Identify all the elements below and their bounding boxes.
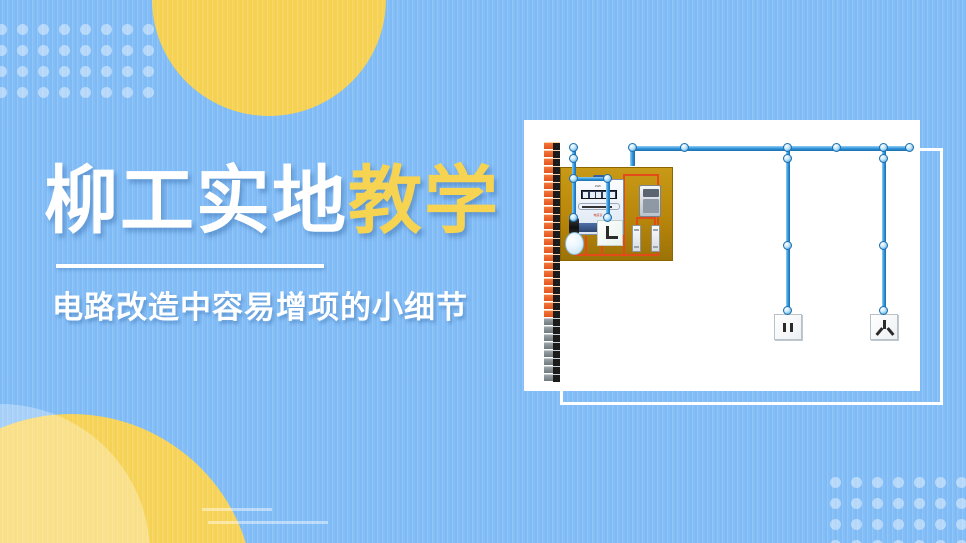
conduit-joint [569, 174, 578, 183]
dot [830, 477, 841, 488]
yellow-circle-top [152, 0, 386, 116]
wire-segment [575, 254, 659, 256]
brick-gray [544, 326, 560, 333]
dot [935, 519, 946, 530]
brick [544, 254, 560, 261]
brick [544, 222, 560, 229]
meter-scale [578, 203, 620, 210]
knife-switch [639, 185, 661, 217]
dot [0, 24, 7, 35]
conduit-outlet1-drop [786, 151, 790, 317]
brick [544, 238, 560, 245]
brick [544, 174, 560, 181]
conduit-joint [569, 213, 578, 222]
conduit-joint [569, 143, 578, 152]
dot [893, 477, 904, 488]
wire-segment [636, 217, 655, 219]
brick [544, 286, 560, 293]
brick-gray [544, 350, 560, 357]
dot [101, 24, 112, 35]
decor-line-1 [202, 508, 272, 511]
wall-switch [597, 220, 623, 246]
brick [544, 214, 560, 221]
dot [59, 45, 70, 56]
dot [143, 87, 154, 98]
brick-gray [544, 358, 560, 365]
dot [956, 519, 966, 530]
dot [956, 498, 966, 509]
dot [0, 66, 7, 77]
dot [59, 66, 70, 77]
brick-gray [544, 342, 560, 349]
brick-gray [544, 374, 560, 381]
brick [544, 230, 560, 237]
brick [544, 270, 560, 277]
page-subtitle: 电路改造中容易增项的小细节 [52, 282, 468, 327]
brick [544, 190, 560, 197]
dot [143, 24, 154, 35]
dot [914, 498, 925, 509]
conduit-outlet2-drop [882, 151, 886, 317]
dot [830, 519, 841, 530]
brick-gray [544, 334, 560, 341]
fuse-holder-1 [632, 225, 641, 252]
dot [38, 87, 49, 98]
dot [143, 45, 154, 56]
brick [544, 198, 560, 205]
dot [101, 66, 112, 77]
dot [80, 24, 91, 35]
dot [956, 477, 966, 488]
dot-row [830, 477, 966, 498]
brick-wall [544, 142, 560, 374]
page-title: 柳工实地教学 [44, 164, 500, 238]
brick [544, 278, 560, 285]
dot-row [830, 519, 966, 540]
conduit-joint [879, 306, 888, 315]
fuse-holder-2 [651, 225, 660, 252]
brick-gray [544, 366, 560, 373]
dot [122, 24, 133, 35]
dot [851, 498, 862, 509]
dot [101, 87, 112, 98]
outlet-two-pin [774, 314, 802, 340]
dot [59, 87, 70, 98]
dot-row [830, 498, 966, 519]
dot [17, 66, 28, 77]
meter-spec-text: 电度表 [576, 213, 620, 217]
outlet-three-pin [870, 314, 898, 340]
conduit-joint [879, 143, 888, 152]
dot [17, 45, 28, 56]
conduit-joint [783, 154, 792, 163]
meter-digit-display [581, 190, 617, 199]
brick [544, 166, 560, 173]
brick [544, 310, 560, 317]
brick [544, 302, 560, 309]
dot [830, 498, 841, 509]
brick [544, 206, 560, 213]
banner-canvas: 柳工实地教学 电路改造中容易增项的小细节 [0, 0, 966, 543]
illustration-card: kWh 电度表 [524, 120, 920, 391]
conduit-joint [783, 306, 792, 315]
light-bulb [565, 232, 584, 255]
dot [914, 519, 925, 530]
dot [80, 66, 91, 77]
dot [38, 24, 49, 35]
conduit-joint [569, 154, 578, 163]
conduit-joint [905, 143, 914, 152]
dot-grid-top-left [0, 24, 164, 108]
title-yellow-part: 教学 [348, 158, 500, 244]
dot [17, 87, 28, 98]
dot [893, 519, 904, 530]
title-white-part: 柳工实地 [44, 158, 348, 244]
dot [38, 45, 49, 56]
dot [851, 519, 862, 530]
conduit-joint [879, 241, 888, 250]
dot [122, 45, 133, 56]
main-conduit-horizontal [632, 146, 912, 151]
dot [872, 519, 883, 530]
dot [0, 87, 7, 98]
brick [544, 150, 560, 157]
conduit-joint [603, 213, 612, 222]
dot [17, 24, 28, 35]
dot [0, 45, 7, 56]
dot-row [0, 45, 164, 66]
conduit-joint [628, 143, 637, 152]
breaker-lever [643, 189, 659, 197]
meter-brand-label: kWh [573, 184, 623, 188]
brick [544, 246, 560, 253]
brick [544, 262, 560, 269]
wire-segment [585, 236, 587, 256]
dot [122, 66, 133, 77]
dot [872, 477, 883, 488]
brick [544, 294, 560, 301]
dot [914, 477, 925, 488]
title-divider [56, 264, 324, 268]
conduit-joint [680, 143, 689, 152]
dot [143, 66, 154, 77]
dot [935, 498, 946, 509]
decor-line-2 [208, 521, 328, 524]
conduit-joint [603, 174, 612, 183]
breaker-body [643, 199, 659, 213]
dot [59, 24, 70, 35]
conduit-joint [879, 154, 888, 163]
dot [80, 87, 91, 98]
wire-segment [623, 174, 659, 176]
dot [38, 66, 49, 77]
dot [122, 87, 133, 98]
conduit-joint [783, 143, 792, 152]
dot [101, 45, 112, 56]
dot [872, 498, 883, 509]
dot-row [0, 87, 164, 108]
circuit-diagram: kWh 电度表 [524, 120, 920, 391]
dot-row [0, 66, 164, 87]
conduit-joint [832, 143, 841, 152]
dot [893, 498, 904, 509]
conduit-joint [783, 241, 792, 250]
dot-row [0, 24, 164, 45]
dot [935, 477, 946, 488]
dot [851, 477, 862, 488]
dot-grid-bottom-right [830, 477, 966, 543]
brick [544, 158, 560, 165]
brick [544, 142, 560, 149]
dot [80, 45, 91, 56]
brick [544, 182, 560, 189]
brick-gray [544, 318, 560, 325]
